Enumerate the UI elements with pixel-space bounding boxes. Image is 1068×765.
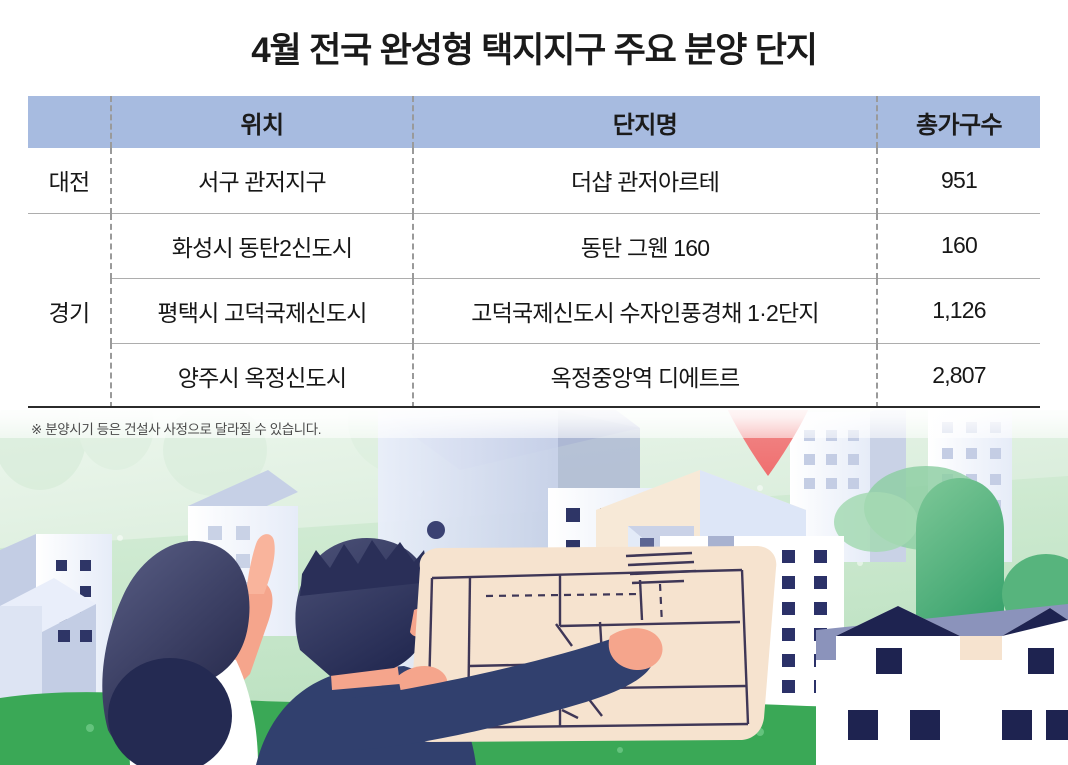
infographic-page: 4월 전국 완성형 택지지구 주요 분양 단지 위치 단지명 총가구수 대전 서… bbox=[0, 0, 1068, 765]
table-body: 대전 서구 관저지구 더샵 관저아르테 951 경기 화성시 동탄2신도시 동탄… bbox=[28, 148, 1040, 408]
cell-location: 서구 관저지구 bbox=[111, 148, 413, 213]
illustration bbox=[0, 398, 1068, 765]
cell-total-households: 1,126 bbox=[877, 278, 1040, 343]
table-header-row: 위치 단지명 총가구수 bbox=[28, 96, 1040, 148]
column-header-region bbox=[28, 96, 111, 148]
table-row: 경기 화성시 동탄2신도시 동탄 그웬 160 160 bbox=[28, 213, 1040, 278]
cell-location: 화성시 동탄2신도시 bbox=[111, 213, 413, 278]
cell-region: 경기 bbox=[28, 213, 111, 408]
cell-location: 양주시 옥정신도시 bbox=[111, 343, 413, 408]
cell-location: 평택시 고덕국제신도시 bbox=[111, 278, 413, 343]
data-table-wrapper: 위치 단지명 총가구수 대전 서구 관저지구 더샵 관저아르테 951 경기 화… bbox=[28, 96, 1040, 408]
page-title: 4월 전국 완성형 택지지구 주요 분양 단지 bbox=[0, 22, 1068, 73]
column-header-location: 위치 bbox=[111, 96, 413, 148]
table-row: 양주시 옥정신도시 옥정중앙역 디에트르 2,807 bbox=[28, 343, 1040, 408]
footnote-text: ※ 분양시기 등은 건설사 사정으로 달라질 수 있습니다. bbox=[31, 418, 321, 438]
cell-region: 대전 bbox=[28, 148, 111, 213]
cell-complex-name: 동탄 그웬 160 bbox=[413, 213, 877, 278]
column-header-complex-name: 단지명 bbox=[413, 96, 877, 148]
cell-complex-name: 고덕국제신도시 수자인풍경채 1·2단지 bbox=[413, 278, 877, 343]
table-bottom-rule bbox=[28, 406, 1040, 408]
cell-total-households: 160 bbox=[877, 213, 1040, 278]
house-row-right bbox=[816, 604, 1068, 765]
cell-total-households: 2,807 bbox=[877, 343, 1040, 408]
cell-total-households: 951 bbox=[877, 148, 1040, 213]
table-row: 평택시 고덕국제신도시 고덕국제신도시 수자인풍경채 1·2단지 1,126 bbox=[28, 278, 1040, 343]
table-row: 대전 서구 관저지구 더샵 관저아르테 951 bbox=[28, 148, 1040, 213]
cell-complex-name: 더샵 관저아르테 bbox=[413, 148, 877, 213]
table-header: 위치 단지명 총가구수 bbox=[28, 96, 1040, 148]
apartment-supply-table: 위치 단지명 총가구수 대전 서구 관저지구 더샵 관저아르테 951 경기 화… bbox=[28, 96, 1040, 408]
cell-complex-name: 옥정중앙역 디에트르 bbox=[413, 343, 877, 408]
column-header-total-households: 총가구수 bbox=[877, 96, 1040, 148]
person-man-with-blueprint bbox=[256, 538, 776, 765]
